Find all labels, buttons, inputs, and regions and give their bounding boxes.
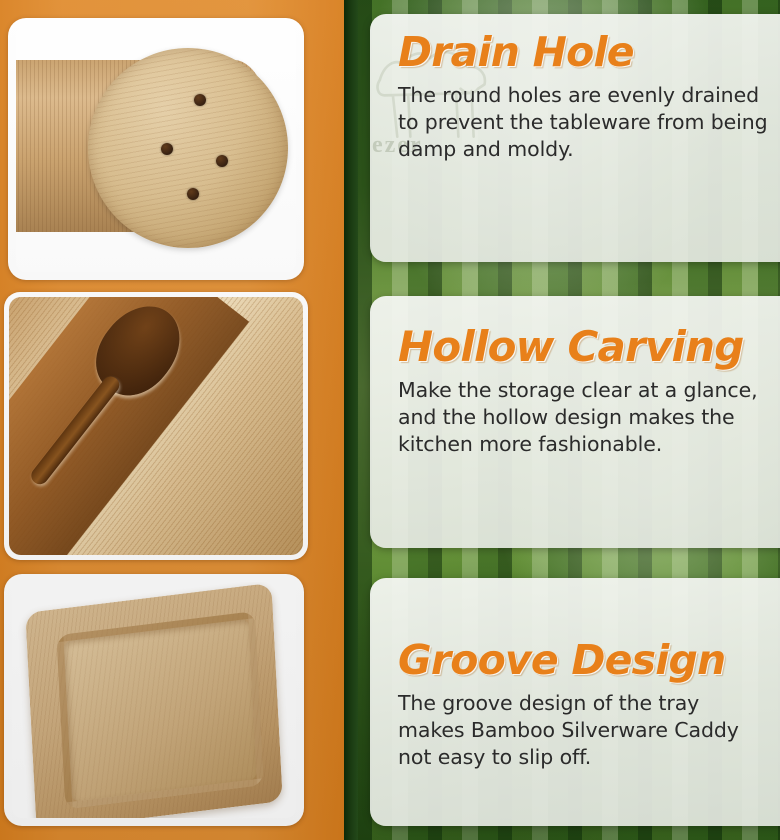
bamboo-panel-scene: [9, 297, 303, 555]
bamboo-tray-scene: [12, 582, 296, 818]
drain-hole-icon: [216, 155, 228, 167]
feature-card-content: Drain Hole The round holes are evenly dr…: [370, 14, 780, 163]
feature-card-groove-design: Groove Design The groove design of the t…: [370, 578, 780, 826]
drain-hole-icon: [194, 94, 206, 106]
left-photo-panel: [0, 0, 344, 840]
description-line: not easy to slip off.: [398, 744, 780, 771]
hollow-carving-photo: [9, 297, 303, 555]
feature-heading: Groove Design: [398, 640, 780, 681]
feature-card-content: Groove Design The groove design of the t…: [370, 578, 780, 771]
description-line: and the hollow design makes the: [398, 404, 780, 431]
feature-heading: Hollow Carving: [398, 326, 780, 368]
feature-card-hollow-carving: Hollow Carving Make the storage clear at…: [370, 296, 780, 548]
feature-heading: Drain Hole: [398, 32, 780, 73]
feature-description: Make the storage clear at a glance, and …: [398, 377, 780, 458]
description-line: to prevent the tableware from being: [398, 109, 780, 136]
description-line: makes Bamboo Silverware Caddy: [398, 717, 780, 744]
drain-hole-icon: [187, 188, 199, 200]
product-feature-infographic: ezer Drain Hole The round holes are even…: [0, 0, 780, 840]
description-line: The round holes are evenly drained: [398, 82, 780, 109]
description-line: The groove design of the tray: [398, 690, 780, 717]
photo-frame-groove-design: [4, 574, 304, 826]
groove-design-photo: [12, 582, 296, 818]
drain-hole-photo: [16, 26, 296, 272]
feature-card-content: Hollow Carving Make the storage clear at…: [370, 296, 780, 458]
drain-hole-icon: [161, 143, 173, 155]
feature-description: The round holes are evenly drained to pr…: [398, 82, 780, 163]
cylinder-end-face: [88, 48, 288, 248]
bamboo-tray: [25, 583, 283, 818]
bamboo-cylinder-scene: [16, 26, 296, 272]
tray-groove: [56, 611, 264, 810]
description-line: Make the storage clear at a glance,: [398, 377, 780, 404]
right-feature-panel: ezer Drain Hole The round holes are even…: [358, 0, 780, 840]
photo-frame-drain-hole: [8, 18, 304, 280]
description-line: damp and moldy.: [398, 136, 780, 163]
feature-description: The groove design of the tray makes Bamb…: [398, 690, 780, 771]
photo-frame-hollow-carving: [4, 292, 308, 560]
description-line: kitchen more fashionable.: [398, 431, 780, 458]
feature-card-drain-hole: ezer Drain Hole The round holes are even…: [370, 14, 780, 262]
